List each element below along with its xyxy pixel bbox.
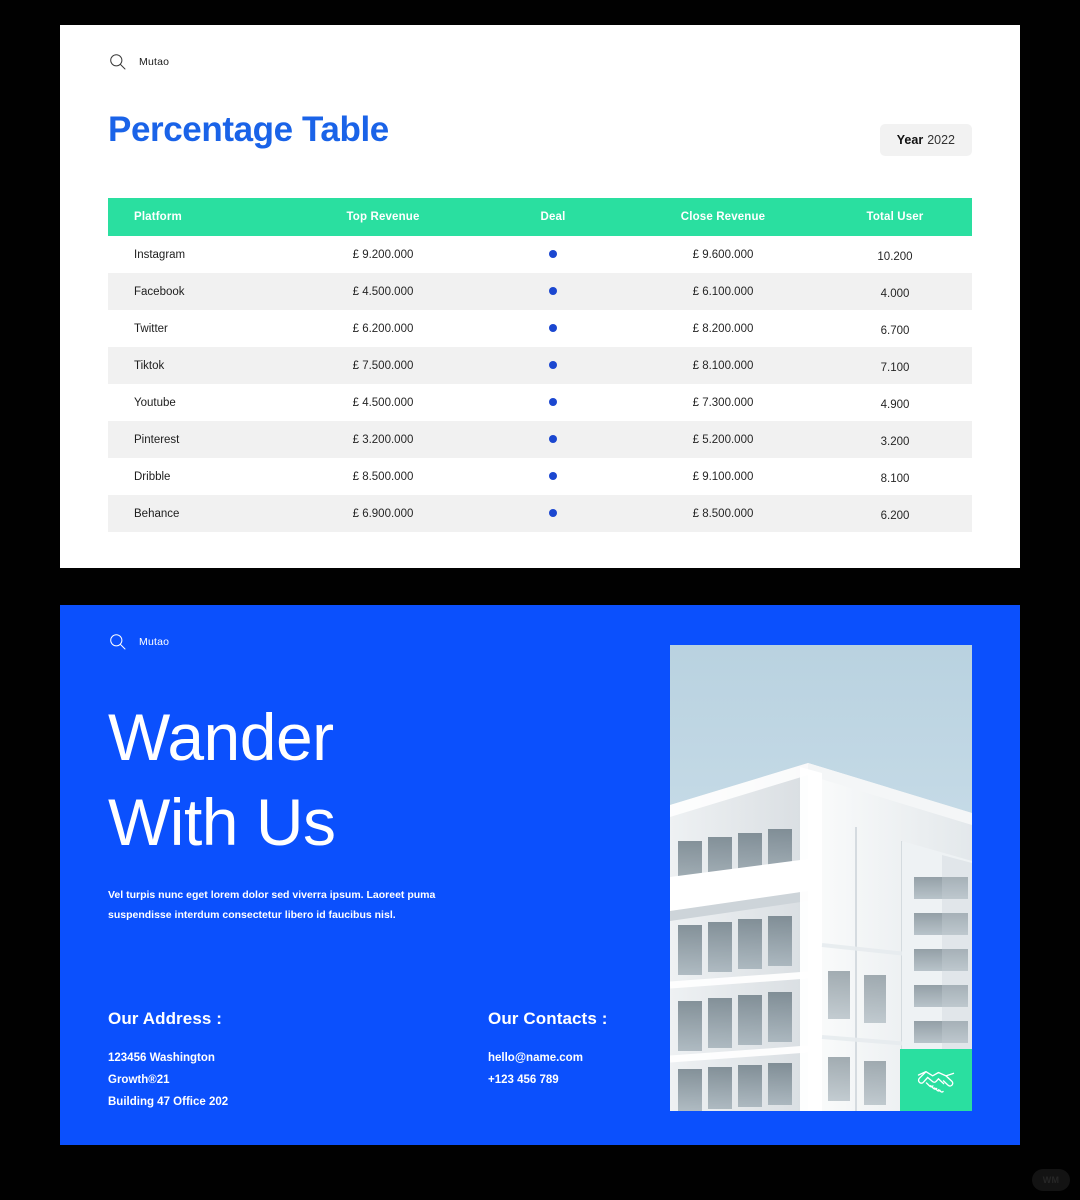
hero-title: Wander With Us: [108, 695, 336, 865]
cell-top-revenue: £ 7.500.000: [288, 347, 478, 384]
brand-logo-hero[interactable]: Mutao: [108, 632, 169, 652]
deal-dot-icon: [549, 361, 557, 369]
cell-top-revenue: £ 4.500.000: [288, 273, 478, 310]
cell-total-user: 10.200: [818, 236, 972, 273]
cell-close-revenue: £ 8.100.000: [628, 347, 818, 384]
address-line: Growth®21: [108, 1069, 338, 1091]
deal-dot-icon: [549, 509, 557, 517]
cell-total-user: 4.900: [818, 384, 972, 421]
table-row[interactable]: Pinterest£ 3.200.000£ 5.200.0003.200: [108, 421, 972, 458]
cell-platform: Dribble: [108, 458, 288, 495]
column-header-deal[interactable]: Deal: [478, 198, 628, 236]
cell-deal: [478, 273, 628, 310]
address-heading: Our Address :: [108, 1009, 338, 1029]
cell-deal: [478, 458, 628, 495]
building-photo: [670, 645, 972, 1111]
table-row[interactable]: Behance£ 6.900.000£ 8.500.0006.200: [108, 495, 972, 532]
deal-dot-icon: [549, 398, 557, 406]
table-row[interactable]: Dribble£ 8.500.000£ 9.100.0008.100: [108, 458, 972, 495]
cell-platform: Tiktok: [108, 347, 288, 384]
year-badge-value: 2022: [927, 133, 955, 147]
search-icon: [108, 52, 128, 72]
hero-title-line-2: With Us: [108, 785, 336, 859]
wander-hero-slide: Mutao Wander With Us Vel turpis nunc ege…: [60, 605, 1020, 1145]
address-line: Building 47 Office 202: [108, 1091, 338, 1113]
handshake-badge: [900, 1049, 972, 1111]
percentage-table: Platform Top Revenue Deal Close Revenue …: [108, 198, 972, 532]
cell-deal: [478, 347, 628, 384]
cell-top-revenue: £ 3.200.000: [288, 421, 478, 458]
cell-top-revenue: £ 9.200.000: [288, 236, 478, 273]
cell-close-revenue: £ 9.600.000: [628, 236, 818, 273]
hero-title-line-1: Wander: [108, 700, 334, 774]
cell-close-revenue: £ 6.100.000: [628, 273, 818, 310]
cell-top-revenue: £ 6.900.000: [288, 495, 478, 532]
page-title: Percentage Table: [108, 111, 389, 150]
cell-close-revenue: £ 8.200.000: [628, 310, 818, 347]
table-row[interactable]: Youtube£ 4.500.000£ 7.300.0004.900: [108, 384, 972, 421]
cell-total-user: 4.000: [818, 273, 972, 310]
column-header-close-revenue[interactable]: Close Revenue: [628, 198, 818, 236]
watermark-badge: WM: [1032, 1169, 1070, 1191]
deal-dot-icon: [549, 435, 557, 443]
deal-dot-icon: [549, 324, 557, 332]
cell-platform: Pinterest: [108, 421, 288, 458]
brand-logo[interactable]: Mutao: [108, 52, 169, 72]
table-row[interactable]: Tiktok£ 7.500.000£ 8.100.0007.100: [108, 347, 972, 384]
cell-close-revenue: £ 5.200.000: [628, 421, 818, 458]
cell-total-user: 6.200: [818, 495, 972, 532]
table-row[interactable]: Twitter£ 6.200.000£ 8.200.0006.700: [108, 310, 972, 347]
brand-name: Mutao: [139, 636, 169, 648]
handshake-icon: [916, 1065, 956, 1095]
table-head: Platform Top Revenue Deal Close Revenue …: [108, 198, 972, 236]
brand-name: Mutao: [139, 56, 169, 68]
cell-platform: Facebook: [108, 273, 288, 310]
deal-dot-icon: [549, 250, 557, 258]
table-row[interactable]: Instagram£ 9.200.000£ 9.600.00010.200: [108, 236, 972, 273]
year-badge-label: Year: [897, 133, 923, 147]
contact-info-columns: Our Address : 123456 Washington Growth®2…: [108, 1009, 718, 1113]
cell-deal: [478, 310, 628, 347]
cell-close-revenue: £ 7.300.000: [628, 384, 818, 421]
cell-top-revenue: £ 8.500.000: [288, 458, 478, 495]
cell-platform: Youtube: [108, 384, 288, 421]
column-header-platform[interactable]: Platform: [108, 198, 288, 236]
cell-close-revenue: £ 8.500.000: [628, 495, 818, 532]
search-icon: [108, 632, 128, 652]
building-photo-illustration: [670, 645, 972, 1111]
deal-dot-icon: [549, 287, 557, 295]
table-row[interactable]: Facebook£ 4.500.000£ 6.100.0004.000: [108, 273, 972, 310]
hero-paragraph: Vel turpis nunc eget lorem dolor sed viv…: [108, 885, 458, 925]
cell-platform: Instagram: [108, 236, 288, 273]
cell-deal: [478, 421, 628, 458]
cell-deal: [478, 495, 628, 532]
table-body: Instagram£ 9.200.000£ 9.600.00010.200Fac…: [108, 236, 972, 532]
address-line: 123456 Washington: [108, 1047, 338, 1069]
cell-close-revenue: £ 9.100.000: [628, 458, 818, 495]
cell-total-user: 7.100: [818, 347, 972, 384]
address-column: Our Address : 123456 Washington Growth®2…: [108, 1009, 338, 1113]
percentage-table-slide: Mutao Percentage Table Year2022 Platform…: [60, 25, 1020, 568]
slide-canvas: Mutao Percentage Table Year2022 Platform…: [0, 0, 1080, 1200]
cell-total-user: 6.700: [818, 310, 972, 347]
cell-deal: [478, 384, 628, 421]
column-header-top-revenue[interactable]: Top Revenue: [288, 198, 478, 236]
cell-top-revenue: £ 4.500.000: [288, 384, 478, 421]
deal-dot-icon: [549, 472, 557, 480]
cell-deal: [478, 236, 628, 273]
cell-total-user: 3.200: [818, 421, 972, 458]
column-header-total-user[interactable]: Total User: [818, 198, 972, 236]
table-header-row: Platform Top Revenue Deal Close Revenue …: [108, 198, 972, 236]
cell-platform: Behance: [108, 495, 288, 532]
cell-top-revenue: £ 6.200.000: [288, 310, 478, 347]
year-badge[interactable]: Year2022: [880, 124, 972, 156]
cell-platform: Twitter: [108, 310, 288, 347]
cell-total-user: 8.100: [818, 458, 972, 495]
